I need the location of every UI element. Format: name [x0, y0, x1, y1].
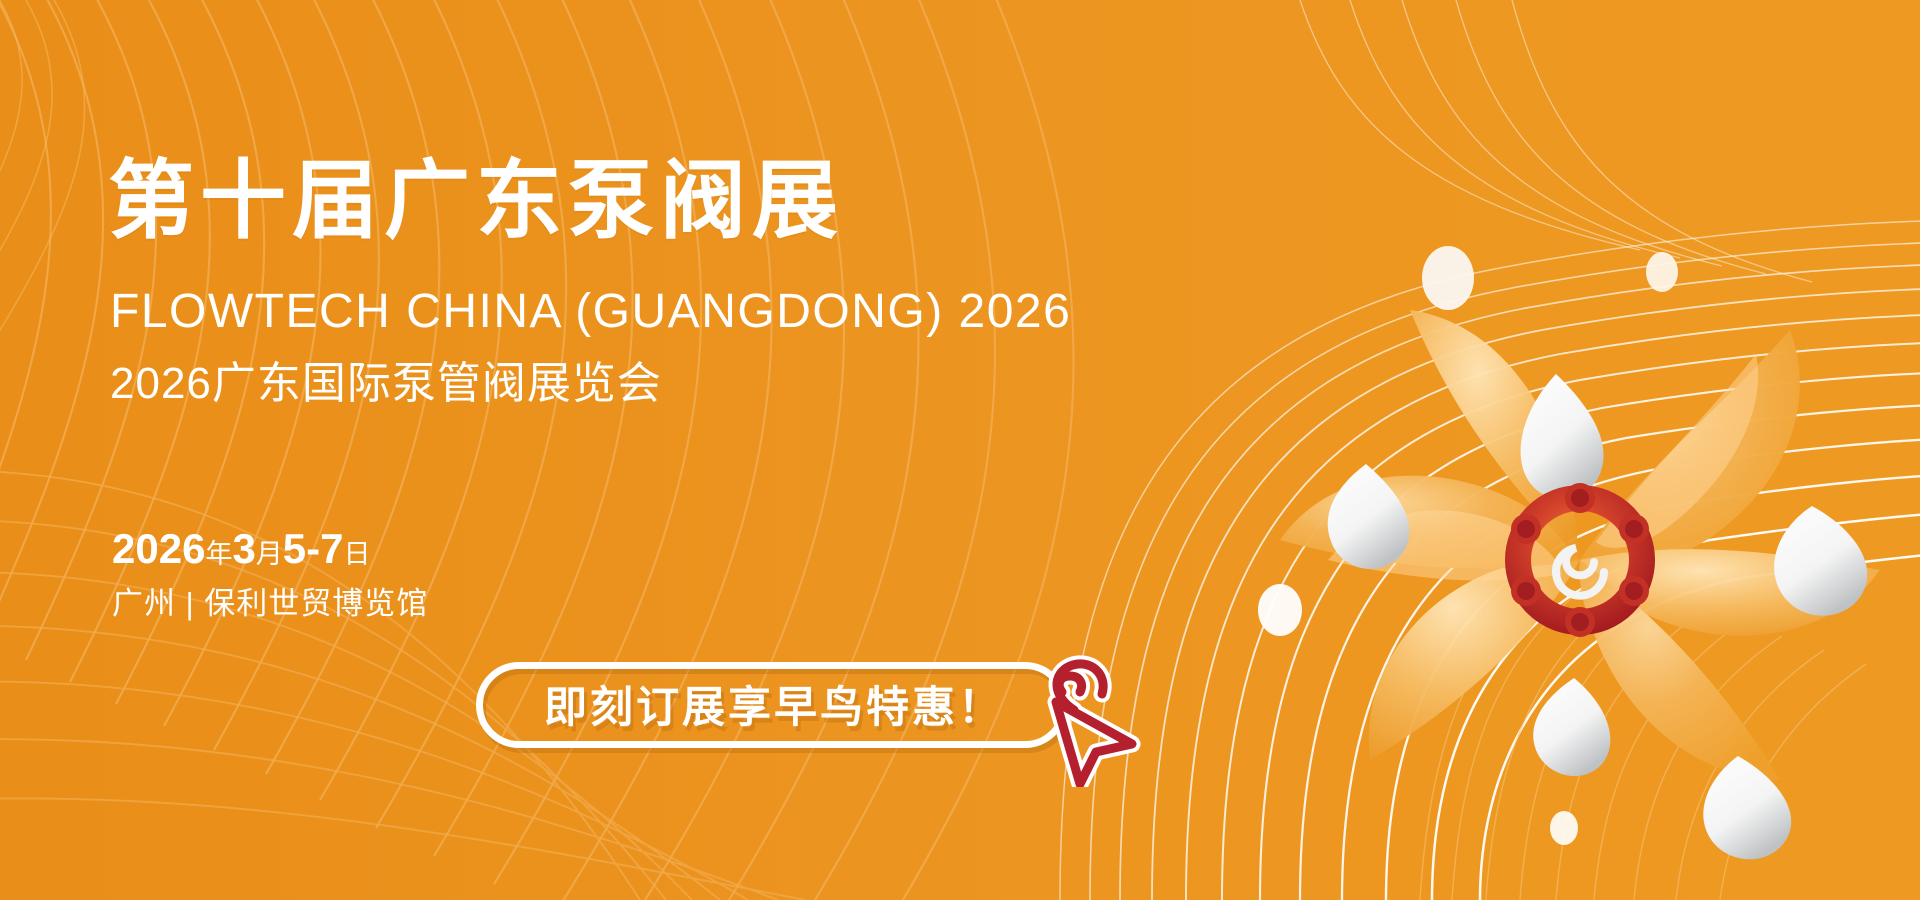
pinwheel-flower-graphic [0, 0, 1920, 900]
promo-banner: 第十届广东泵阀展 FLOWTECH CHINA (GUANGDONG) 2026… [0, 0, 1920, 900]
event-date: 2026年3月5-7日 [112, 528, 371, 570]
date-month-unit: 月 [256, 539, 283, 569]
page-title: 第十届广东泵阀展 [108, 158, 844, 244]
date-day-unit: 日 [344, 539, 371, 569]
date-month: 3 [232, 525, 255, 572]
chinese-subtitle: 2026广东国际泵管阀展览会 [110, 362, 662, 406]
english-title: FLOWTECH CHINA (GUANGDONG) 2026 [110, 288, 1071, 336]
early-bird-cta-button[interactable]: 即刻订展享早鸟特惠！ [476, 662, 1068, 748]
date-year: 2026 [112, 525, 205, 572]
date-days: 5-7 [283, 525, 344, 572]
event-venue: 广州 | 保利世贸博览馆 [112, 588, 428, 619]
date-year-unit: 年 [205, 539, 232, 569]
click-cursor-icon [1022, 652, 1142, 787]
cta-label: 即刻订展享早鸟特惠！ [483, 669, 1061, 741]
